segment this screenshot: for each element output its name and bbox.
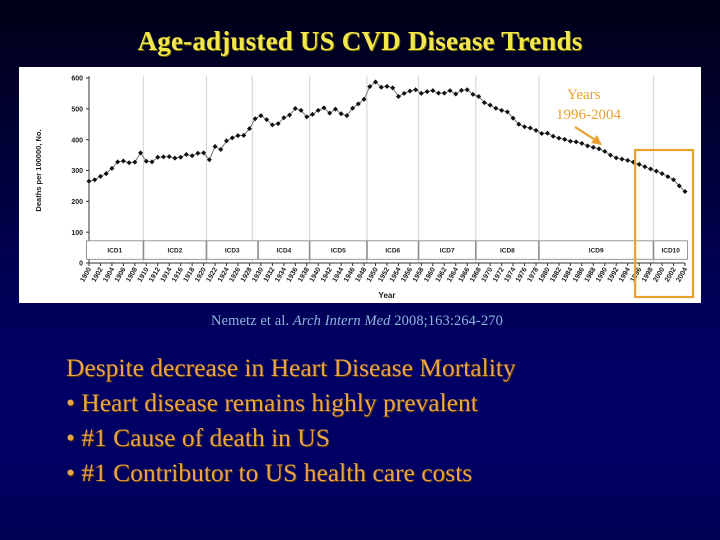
data-point-marker xyxy=(499,108,504,113)
data-point-marker xyxy=(551,134,556,139)
annotation-line-1: Years xyxy=(567,87,601,103)
data-point-marker xyxy=(213,144,218,149)
data-point-marker xyxy=(597,146,602,151)
data-point-marker xyxy=(258,113,263,118)
y-tick-label: 400 xyxy=(71,137,83,144)
data-point-marker xyxy=(184,152,189,157)
data-point-marker xyxy=(579,141,584,146)
data-point-marker xyxy=(167,154,172,159)
data-point-marker xyxy=(585,143,590,148)
data-point-marker xyxy=(648,166,653,171)
data-point-marker xyxy=(608,153,613,158)
slide-root: Age-adjusted US CVD Disease Trends 01002… xyxy=(0,0,720,540)
data-point-marker xyxy=(230,135,235,140)
data-point-marker xyxy=(602,149,607,154)
data-point-marker xyxy=(413,87,418,92)
data-point-marker xyxy=(591,145,596,150)
data-point-marker xyxy=(127,160,132,165)
data-point-marker xyxy=(390,85,395,90)
data-point-marker xyxy=(396,94,401,99)
bullet-list: Despite decrease in Heart Disease Mortal… xyxy=(66,350,706,490)
data-point-marker xyxy=(637,162,642,167)
y-tick-label: 500 xyxy=(71,106,83,113)
data-point-marker xyxy=(92,177,97,182)
citation-reference: 2008;163:264-270 xyxy=(394,313,503,329)
data-point-marker xyxy=(448,88,453,93)
icd-band-label: ICD9 xyxy=(589,247,604,254)
data-point-marker xyxy=(224,138,229,143)
data-point-marker xyxy=(665,174,670,179)
icd-band-label: ICD2 xyxy=(168,247,183,254)
data-point-marker xyxy=(419,91,424,96)
data-point-marker xyxy=(493,106,498,111)
icd-band-label: ICD1 xyxy=(107,247,122,254)
data-point-marker xyxy=(407,88,412,93)
data-point-marker xyxy=(87,179,92,184)
data-point-marker xyxy=(625,158,630,163)
data-point-marker xyxy=(619,157,624,162)
y-tick-label: 100 xyxy=(71,230,83,237)
data-point-marker xyxy=(436,91,441,96)
data-point-marker xyxy=(425,89,430,94)
icd-band-label: ICD3 xyxy=(225,247,240,254)
bullet-line-1: • Heart disease remains highly prevalent xyxy=(66,385,706,420)
data-point-marker xyxy=(98,174,103,179)
data-point-marker xyxy=(453,92,458,97)
cvd-trend-line-chart: 0100200300400500600Deaths per 100000, No… xyxy=(19,67,701,303)
data-point-marker xyxy=(402,91,407,96)
data-point-marker xyxy=(144,159,149,164)
icd-band-label: ICD10 xyxy=(661,247,680,254)
data-point-marker xyxy=(614,155,619,160)
annotation-line-2: 1996-2004 xyxy=(556,107,621,123)
bullet-line-0: Despite decrease in Heart Disease Mortal… xyxy=(66,350,706,385)
citation: Nemetz et al. Arch Intern Med 2008;163:2… xyxy=(0,313,720,330)
data-point-marker xyxy=(562,137,567,142)
x-tick-label: 2004 xyxy=(675,266,689,283)
data-point-marker xyxy=(132,160,137,165)
chart-plot-area: 0100200300400500600Deaths per 100000, No… xyxy=(19,67,701,303)
data-point-marker xyxy=(172,156,177,161)
icd-band-label: ICD7 xyxy=(440,247,455,254)
data-point-marker xyxy=(316,108,321,113)
data-point-marker xyxy=(253,116,258,121)
data-point-marker xyxy=(539,131,544,136)
icd-band-label: ICD8 xyxy=(500,247,515,254)
data-point-marker xyxy=(310,112,315,117)
annotation-arrow-head xyxy=(591,135,602,145)
data-point-marker xyxy=(556,136,561,141)
data-point-marker xyxy=(385,84,390,89)
bullet-line-2: • #1 Cause of death in US xyxy=(66,420,706,455)
data-point-marker xyxy=(121,158,126,163)
y-axis-label: Deaths per 100000, No. xyxy=(34,129,43,211)
data-point-marker xyxy=(138,150,143,155)
data-point-marker xyxy=(528,125,533,130)
icd-band-label: ICD5 xyxy=(331,247,346,254)
citation-authors: Nemetz et al. xyxy=(211,313,289,329)
data-point-marker xyxy=(236,133,241,138)
data-point-marker xyxy=(522,124,527,129)
y-tick-label: 300 xyxy=(71,168,83,175)
data-point-marker xyxy=(568,139,573,144)
icd-band-label: ICD4 xyxy=(276,247,291,254)
y-tick-label: 0 xyxy=(79,261,83,268)
bullet-line-3: • #1 Contributor to US health care costs xyxy=(66,455,706,490)
data-point-marker xyxy=(545,131,550,136)
data-point-marker xyxy=(660,171,665,176)
data-point-marker xyxy=(218,147,223,152)
data-point-marker xyxy=(534,128,539,133)
data-point-marker xyxy=(178,155,183,160)
data-point-marker xyxy=(195,151,200,156)
data-point-marker xyxy=(161,154,166,159)
data-point-marker xyxy=(459,88,464,93)
icd-band-label: ICD6 xyxy=(385,247,400,254)
data-point-marker xyxy=(488,103,493,108)
data-point-marker xyxy=(574,139,579,144)
data-point-marker xyxy=(442,91,447,96)
data-point-marker xyxy=(642,164,647,169)
data-point-marker xyxy=(190,153,195,158)
chart-panel: 0100200300400500600Deaths per 100000, No… xyxy=(19,67,701,303)
citation-journal: Arch Intern Med xyxy=(293,313,391,329)
data-point-marker xyxy=(654,169,659,174)
y-tick-label: 600 xyxy=(71,76,83,83)
x-axis-label: Year xyxy=(379,291,396,300)
y-tick-label: 200 xyxy=(71,199,83,206)
data-point-marker xyxy=(430,88,435,93)
page-title: Age-adjusted US CVD Disease Trends xyxy=(0,26,720,57)
